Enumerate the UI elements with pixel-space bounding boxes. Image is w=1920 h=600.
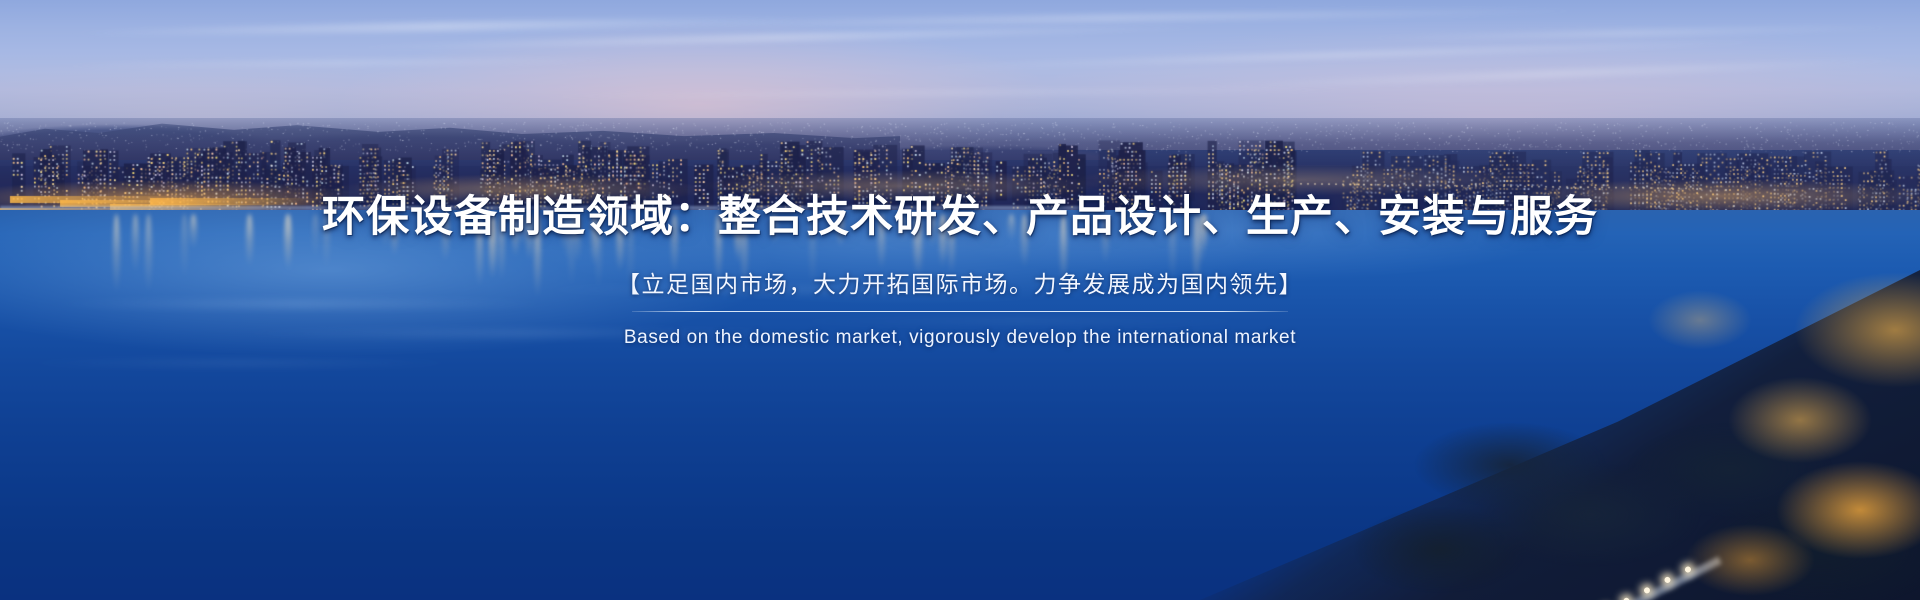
light-reflection <box>627 214 634 290</box>
water-streak <box>760 318 1280 324</box>
light-reflection <box>1060 214 1067 286</box>
light-reflection <box>616 214 623 273</box>
light-reflection <box>1021 214 1028 268</box>
light-reflection <box>715 214 722 284</box>
light-reflection <box>181 214 188 279</box>
light-reflection <box>1102 214 1109 264</box>
hero-banner: 环保设备制造领域：整合技术研发、产品设计、生产、安装与服务 【立足国内市场，大力… <box>0 0 1920 600</box>
light-reflection <box>145 214 152 293</box>
light-reflection <box>900 214 907 242</box>
light-reflection <box>519 214 526 246</box>
light-reflection <box>837 214 844 247</box>
light-reflection <box>735 214 742 264</box>
light-reflection <box>382 214 389 249</box>
light-reflection <box>574 214 581 263</box>
water-streak <box>40 300 560 308</box>
light-reflection <box>1169 214 1176 284</box>
light-reflection <box>190 214 197 249</box>
light-reflection <box>671 214 678 274</box>
light-reflection <box>489 214 496 279</box>
light-reflection <box>948 214 955 274</box>
light-reflection <box>113 214 120 293</box>
light-reflection <box>526 214 533 261</box>
light-reflection <box>878 214 885 270</box>
water-streak <box>0 360 480 366</box>
light-reflection <box>741 214 748 290</box>
water-streak <box>220 330 820 337</box>
light-reflection <box>929 214 936 247</box>
light-reflection <box>534 214 541 298</box>
shore-street-lights <box>1500 260 1920 600</box>
light-reflection <box>1193 214 1200 291</box>
